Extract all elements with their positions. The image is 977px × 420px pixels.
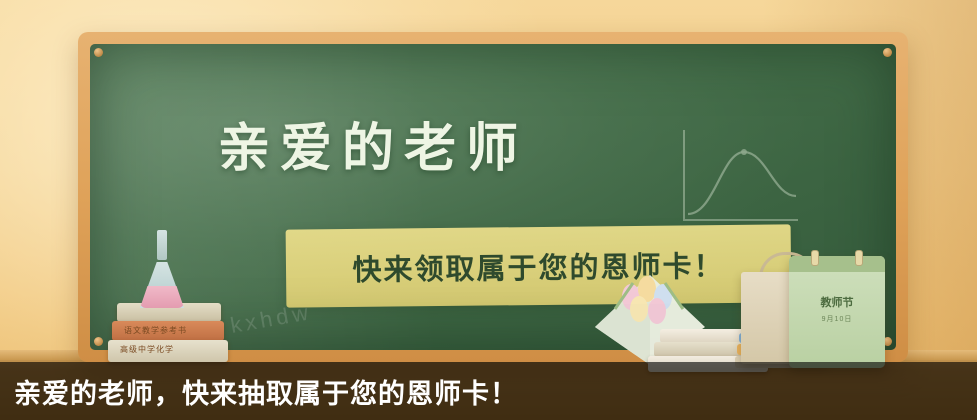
book-label-2: 语文教学参考书 bbox=[124, 325, 187, 336]
screw-icon bbox=[883, 48, 892, 57]
book-bottom: 高级中学化学 bbox=[108, 340, 228, 362]
screw-icon bbox=[94, 337, 103, 346]
calendar-header bbox=[789, 256, 885, 272]
book-stack-left: 语文教学参考书 高级中学化学 bbox=[108, 300, 228, 362]
board-headline: 亲爱的老师 bbox=[90, 106, 896, 181]
calendar-body bbox=[789, 256, 885, 368]
image-canvas: kxhdw 亲爱的老师 快来领取属于您的恩师卡！ 语文教学参考书 高级中学化学 bbox=[0, 0, 977, 420]
calendar-title: 教师节 bbox=[789, 294, 885, 310]
screw-icon bbox=[94, 48, 103, 57]
calendar-date: 9月10日 bbox=[789, 314, 885, 324]
flask-neck bbox=[157, 230, 167, 260]
flask-liquid bbox=[140, 286, 184, 308]
calendar-ring bbox=[811, 250, 819, 266]
conical-flask-icon bbox=[140, 230, 184, 308]
caption-bar: 亲爱的老师，快来抽取属于您的恩师卡！ bbox=[0, 362, 977, 420]
caption-text: 亲爱的老师，快来抽取属于您的恩师卡！ bbox=[14, 372, 518, 411]
book-label-1: 高级中学化学 bbox=[120, 344, 174, 355]
book-middle: 语文教学参考书 bbox=[112, 321, 224, 341]
calendar-icon: 教师节 9月10日 bbox=[789, 256, 885, 368]
calendar-ring bbox=[855, 250, 863, 266]
